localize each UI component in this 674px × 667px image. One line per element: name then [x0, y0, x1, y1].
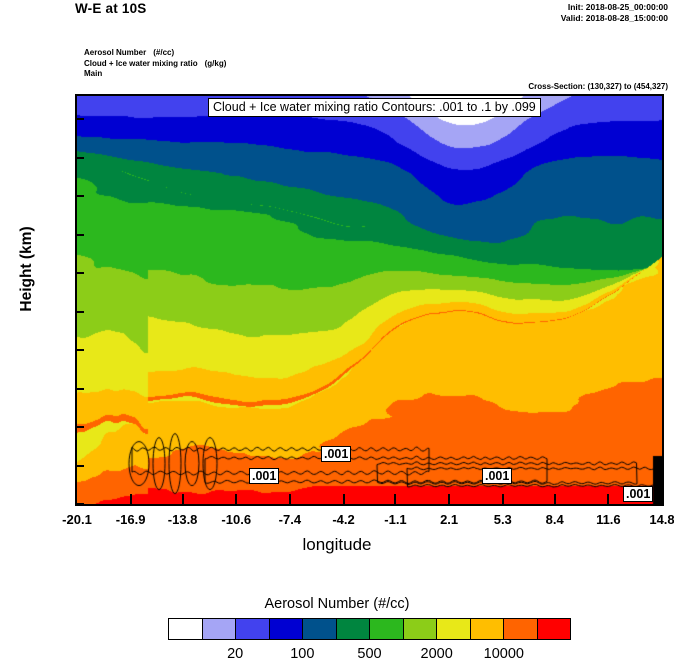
colorbar-swatch[interactable]: [203, 619, 237, 639]
colorbar-swatch[interactable]: [236, 619, 270, 639]
x-tick-label: -13.8: [168, 512, 198, 527]
x-tick-label: 2.1: [440, 512, 458, 527]
x-tick-mark: [554, 494, 556, 506]
contour-value-label: .001: [321, 446, 351, 462]
colorbar-title: Aerosol Number (#/cc): [0, 596, 674, 612]
colorbar-swatch[interactable]: [303, 619, 337, 639]
variable-name-1: Cloud + Ice water mixing ratio: [84, 59, 198, 68]
cross-section-coords: Cross-Section: (130,327) to (454,327): [528, 82, 668, 91]
x-tick-mark: [343, 494, 345, 506]
x-tick-mark: [182, 494, 184, 506]
contour-value-label: .001: [482, 468, 512, 484]
x-tick-mark: [607, 494, 609, 506]
y-tick-mark: [75, 503, 84, 505]
y-tick-mark: [75, 426, 84, 428]
variable-units-0: (#/cc): [146, 48, 174, 59]
y-tick-mark: [75, 118, 84, 120]
x-tick-label: 5.3: [494, 512, 512, 527]
x-tick-mark: [502, 494, 504, 506]
colorbar[interactable]: [168, 618, 571, 640]
page-title: W-E at 10S: [75, 1, 147, 16]
colorbar-tick-label: 2000: [421, 646, 453, 662]
x-tick-mark: [235, 494, 237, 506]
x-tick-label: -10.6: [221, 512, 251, 527]
x-tick-label: -4.2: [332, 512, 354, 527]
colorbar-swatch[interactable]: [437, 619, 471, 639]
x-tick-label: 14.8: [649, 512, 674, 527]
contour-value-label: .001: [623, 486, 653, 502]
variable-units-1: (g/kg): [198, 59, 227, 70]
valid-time: Valid: 2018-08-28_15:00:00: [561, 13, 668, 24]
x-tick-label: -7.4: [279, 512, 301, 527]
y-tick-mark: [75, 195, 84, 197]
variable-row-0: Aerosol Number(#/cc): [84, 48, 226, 59]
variable-legend: Aerosol Number(#/cc) Cloud + Ice water m…: [84, 48, 226, 80]
x-tick-label: -1.1: [384, 512, 406, 527]
colorbar-swatch[interactable]: [337, 619, 371, 639]
x-tick-mark: [394, 494, 396, 506]
colorbar-swatch[interactable]: [471, 619, 505, 639]
y-tick-mark: [75, 388, 84, 390]
colorbar-tick-label: 500: [357, 646, 381, 662]
colorbar-tick-label: 20: [227, 646, 243, 662]
x-tick-label: 8.4: [546, 512, 564, 527]
y-tick-mark: [75, 349, 84, 351]
y-axis-label: Height (km): [18, 199, 36, 339]
contour-title-box: Cloud + Ice water mixing ratio Contours:…: [208, 98, 541, 117]
aerosol-field-raster: [77, 96, 662, 504]
x-tick-label: -20.1: [62, 512, 92, 527]
colorbar-tick-label: 100: [290, 646, 314, 662]
colorbar-swatch[interactable]: [169, 619, 203, 639]
x-tick-label: -16.9: [116, 512, 146, 527]
variable-name-2: Main: [84, 69, 102, 78]
y-tick-mark: [75, 311, 84, 313]
colorbar-swatch[interactable]: [404, 619, 438, 639]
variable-name-0: Aerosol Number: [84, 48, 146, 57]
colorbar-swatch[interactable]: [270, 619, 304, 639]
y-tick-mark: [75, 157, 84, 159]
init-time: Init: 2018-08-25_00:00:00: [561, 2, 668, 13]
variable-row-2: Main: [84, 69, 226, 80]
variable-row-1: Cloud + Ice water mixing ratio(g/kg): [84, 59, 226, 70]
y-tick-mark: [75, 465, 84, 467]
x-tick-mark: [130, 494, 132, 506]
colorbar-swatch[interactable]: [370, 619, 404, 639]
cross-section-plot[interactable]: Cloud + Ice water mixing ratio Contours:…: [75, 94, 664, 506]
x-axis-label: longitude: [0, 535, 674, 555]
colorbar-tick-label: 10000: [484, 646, 524, 662]
contour-value-label: .001: [249, 468, 279, 484]
x-tick-label: 11.6: [596, 512, 621, 527]
x-tick-mark: [448, 494, 450, 506]
x-tick-mark: [289, 494, 291, 506]
run-time-block: Init: 2018-08-25_00:00:00 Valid: 2018-08…: [561, 2, 668, 24]
y-tick-mark: [75, 272, 84, 274]
colorbar-swatch[interactable]: [504, 619, 538, 639]
y-tick-mark: [75, 234, 84, 236]
colorbar-swatch[interactable]: [538, 619, 571, 639]
